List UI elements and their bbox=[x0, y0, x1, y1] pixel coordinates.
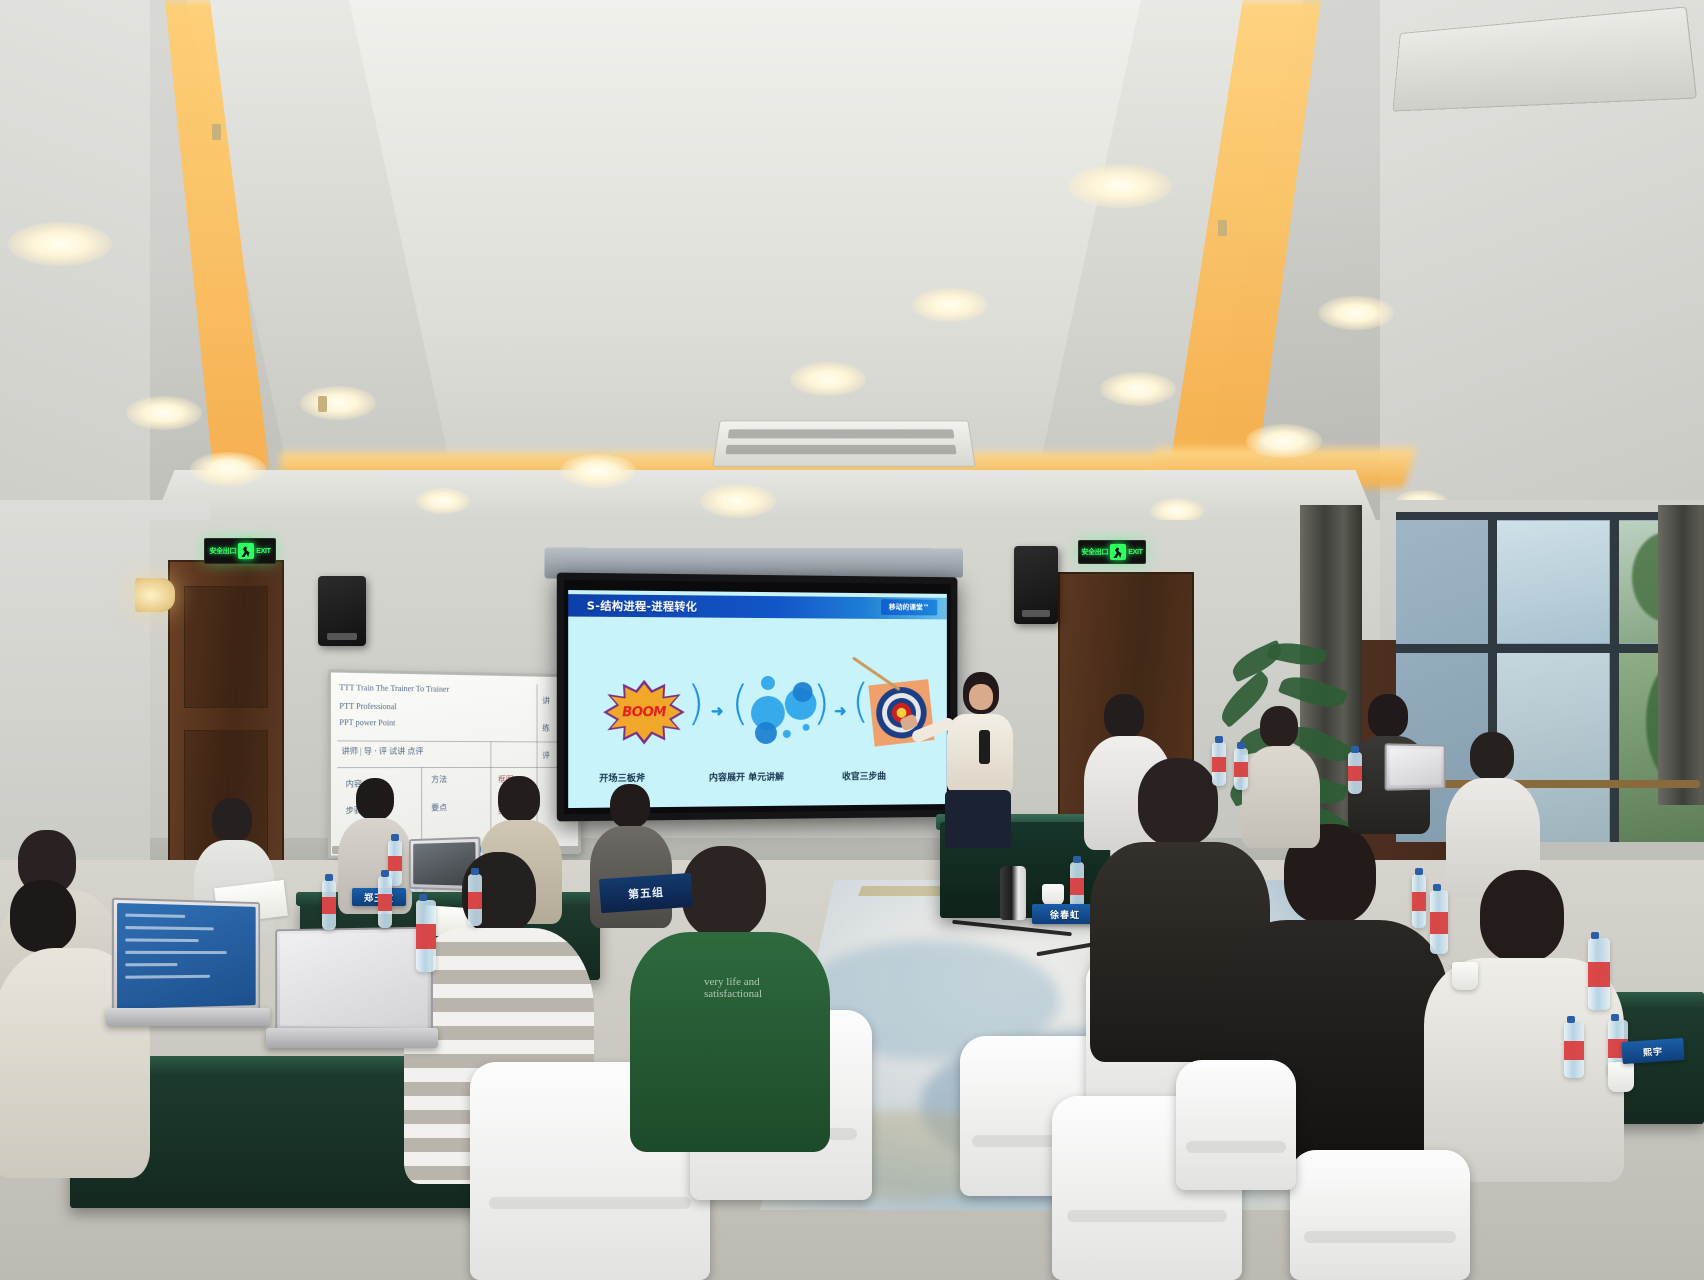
water-bottle bbox=[378, 876, 392, 928]
whiteboard-line: 讲师 | 导 · 评 试讲 点评 bbox=[341, 747, 423, 757]
slide-title-bar: S-结构进程-进程转化 移动的课堂™ bbox=[568, 594, 947, 619]
handheld-microphone bbox=[979, 730, 990, 764]
boom-burst: BOOM bbox=[607, 684, 680, 741]
paren-close-1: ) bbox=[687, 680, 705, 726]
water-bottle bbox=[1234, 748, 1248, 790]
water-bottle bbox=[416, 900, 436, 972]
ceiling-downlight bbox=[126, 396, 202, 430]
bubble bbox=[803, 724, 810, 731]
water-bottle bbox=[322, 880, 336, 930]
paper-cup bbox=[1608, 1062, 1634, 1092]
running-man-icon bbox=[1110, 544, 1126, 560]
water-bottle bbox=[1564, 1022, 1584, 1078]
attendee-name-right: 熙宇 bbox=[1643, 1044, 1664, 1058]
exit-sign-left: 安全出口 EXIT bbox=[204, 538, 276, 564]
paren-open-3: ( bbox=[852, 678, 870, 724]
attendee bbox=[1240, 706, 1322, 846]
slide-title: S-结构进程-进程转化 bbox=[587, 597, 697, 614]
laptop-keyboard[interactable] bbox=[266, 1028, 438, 1048]
ceiling-downlight bbox=[912, 288, 988, 322]
slide-content: S-结构进程-进程转化 移动的课堂™ BOOM ) ➜ ( ) ➜ bbox=[568, 590, 947, 808]
bubble bbox=[783, 730, 791, 738]
ceiling-downlight bbox=[416, 488, 470, 514]
ceiling-downlight bbox=[790, 362, 866, 396]
attendee-nameplate-right: 熙宇 bbox=[1621, 1038, 1684, 1064]
wall-sconce bbox=[135, 578, 175, 612]
exit-sign-label-cn: 安全出口 bbox=[1081, 547, 1108, 557]
slide-logo: 移动的课堂™ bbox=[881, 599, 937, 615]
paren-close-2: ) bbox=[813, 680, 831, 726]
running-man-icon bbox=[238, 543, 254, 559]
slide-caption-2: 内容展开 单元讲解 bbox=[709, 770, 784, 784]
sprinkler-head bbox=[318, 396, 327, 412]
boom-label: BOOM bbox=[622, 705, 666, 720]
conference-room-photo: 安全出口 EXIT 安全出口 EXIT TTT Train The Traine… bbox=[0, 0, 1704, 1280]
water-bottle bbox=[1070, 862, 1084, 910]
group-table-sign: 第五组 bbox=[599, 873, 693, 913]
whiteboard-line: PPT power Point bbox=[339, 718, 395, 728]
slide-caption-3: 收官三步曲 bbox=[842, 769, 886, 782]
exit-sign-right: 安全出口 EXIT bbox=[1078, 540, 1146, 564]
water-bottle bbox=[1430, 890, 1448, 954]
arrow-1: ➜ bbox=[711, 702, 724, 720]
water-bottle bbox=[1348, 752, 1362, 794]
laptop-screen bbox=[117, 903, 256, 1009]
wall-speaker-left bbox=[318, 576, 366, 646]
laptop[interactable] bbox=[275, 927, 433, 1034]
ceiling-downlight bbox=[1068, 164, 1172, 208]
arrow-2: ➜ bbox=[834, 702, 846, 720]
presenter bbox=[935, 672, 1021, 842]
exit-sign-label-en: EXIT bbox=[256, 548, 270, 555]
ceiling-downlight bbox=[1246, 424, 1322, 458]
bubble bbox=[761, 676, 775, 690]
bubble bbox=[793, 682, 813, 702]
paper-cup bbox=[1452, 962, 1478, 990]
presenter-skirt bbox=[945, 790, 1011, 848]
water-bottle bbox=[1412, 874, 1426, 928]
paren-open-2: ( bbox=[731, 680, 749, 726]
laptop[interactable] bbox=[1385, 743, 1446, 790]
ceiling-downlight bbox=[8, 222, 112, 266]
curtain-right bbox=[1658, 505, 1704, 805]
whiteboard-line: PTT Professional bbox=[339, 701, 396, 711]
ceiling-ac-vent bbox=[712, 420, 976, 466]
tea-cup-lid bbox=[1042, 884, 1064, 906]
group-sign-label: 第五组 bbox=[627, 884, 664, 902]
ceiling-downlight bbox=[1100, 372, 1176, 406]
ceiling-downlight bbox=[190, 452, 266, 486]
water-bottle bbox=[1588, 938, 1610, 1010]
presenter-nameplate: 徐春虹 bbox=[1032, 904, 1098, 924]
laptop[interactable] bbox=[112, 898, 260, 1015]
ceiling-downlight bbox=[300, 386, 376, 420]
whiteboard-line: TTT Train The Trainer To Trainer bbox=[339, 683, 449, 694]
whiteboard-line: 方法 bbox=[431, 775, 447, 784]
water-bottle bbox=[468, 874, 482, 926]
water-bottle bbox=[1212, 742, 1226, 786]
bubble bbox=[755, 722, 777, 744]
exit-sign-label-en: EXIT bbox=[1128, 549, 1142, 556]
sprinkler-head bbox=[1218, 220, 1227, 236]
sprinkler-head bbox=[212, 124, 221, 140]
laptop-keyboard[interactable] bbox=[106, 1008, 270, 1026]
attendee bbox=[1424, 870, 1624, 1180]
slide-caption-1: 开场三板斧 bbox=[599, 771, 645, 785]
wall-speaker-right bbox=[1014, 546, 1058, 624]
exit-sign-label-cn: 安全出口 bbox=[209, 546, 236, 556]
thermos-flask bbox=[1000, 866, 1026, 920]
chair[interactable] bbox=[1290, 1150, 1470, 1280]
chair[interactable] bbox=[1176, 1060, 1296, 1190]
ceiling-downlight bbox=[560, 454, 636, 488]
presenter-name: 徐春虹 bbox=[1050, 908, 1080, 921]
ceiling-downlight bbox=[1318, 296, 1394, 330]
ceiling-downlight bbox=[700, 484, 776, 518]
ceiling-left-return bbox=[0, 0, 150, 540]
slide-logo-text: 移动的课堂™ bbox=[889, 602, 930, 612]
